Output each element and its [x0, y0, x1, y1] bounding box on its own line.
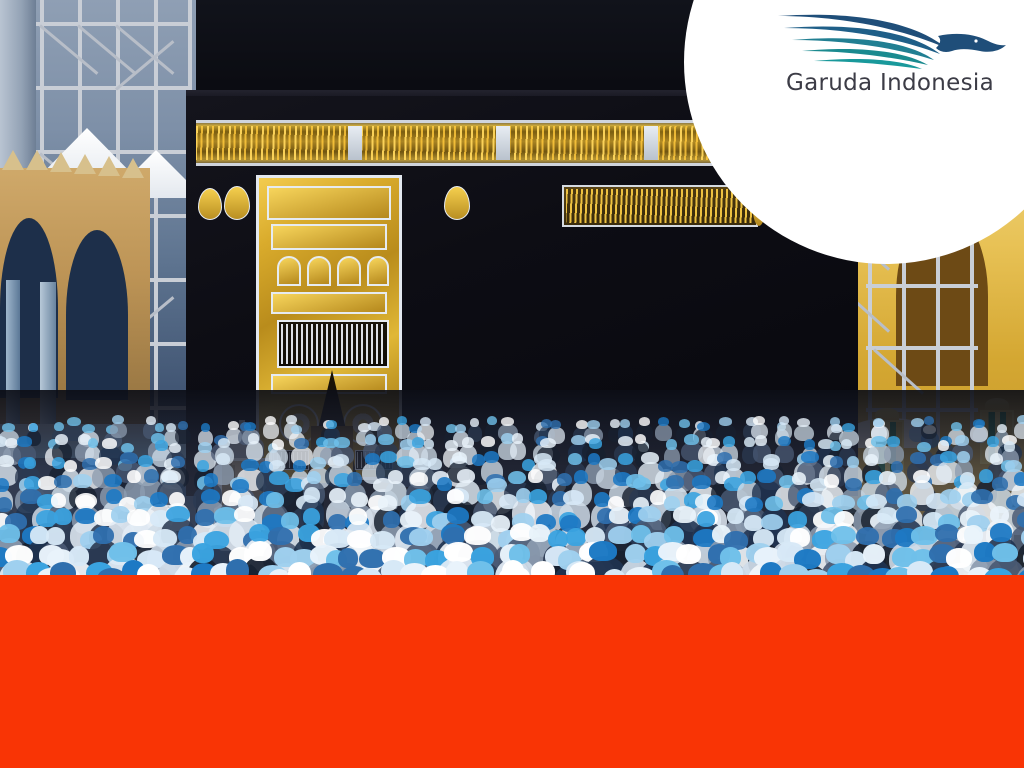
pilgrim-cap	[834, 511, 854, 528]
pilgrim-cap	[169, 443, 182, 454]
pilgrim-cap	[491, 515, 510, 532]
pilgrim-cap	[201, 423, 211, 432]
pilgrim-cap	[666, 439, 677, 450]
pilgrim-cap	[334, 437, 350, 448]
pilgrim-cap	[540, 438, 555, 449]
pilgrim-cap	[55, 434, 68, 445]
pilgrim-cap	[913, 470, 929, 484]
pilgrim-cap	[997, 424, 1007, 433]
pilgrim-cap	[719, 417, 732, 426]
pilgrim-cap	[351, 492, 368, 507]
pilgrim-cap	[990, 506, 1009, 523]
pilgrim-cap	[620, 419, 630, 428]
pilgrim-cap	[957, 451, 970, 463]
pilgrim-cap	[120, 452, 138, 464]
pilgrim-cap	[1005, 460, 1022, 472]
pilgrim-cap	[294, 438, 309, 449]
pilgrim-cap	[801, 451, 819, 463]
brand-wordmark: Garuda Indonesia	[770, 70, 1010, 96]
pilgrim-cap	[144, 469, 159, 483]
pilgrim-cap	[676, 544, 701, 564]
pilgrim-cap	[54, 475, 71, 489]
pilgrim-cap	[464, 526, 491, 544]
pilgrim-cap	[971, 489, 993, 504]
pilgrim-cap	[501, 417, 514, 426]
pilgrim-cap	[973, 419, 985, 428]
door-inscription-plate	[277, 320, 389, 368]
pilgrim-cap	[0, 455, 14, 467]
pilgrim-cap	[248, 541, 272, 561]
pilgrim-cap	[697, 511, 715, 528]
pilgrim-cap	[388, 470, 403, 484]
pilgrim-cap	[538, 459, 556, 471]
pilgrim-cap	[161, 470, 180, 484]
pilgrim-cap	[412, 437, 424, 448]
kiswah-calligraphy-cartouche	[562, 185, 758, 227]
pilgrim-cap	[333, 454, 349, 466]
pilgrim-cap	[707, 495, 723, 510]
pilgrim-cap	[723, 436, 735, 447]
pilgrim-cap	[169, 492, 185, 507]
pilgrim-cap	[378, 495, 397, 510]
pilgrim-cap	[286, 415, 296, 424]
pilgrim-cap	[349, 508, 368, 525]
pilgrim-cap	[740, 471, 756, 485]
pilgrim-cap	[452, 452, 467, 464]
pilgrim-cap	[109, 542, 137, 562]
pilgrim-cap	[329, 488, 346, 503]
pilgrim-cap	[765, 496, 783, 511]
garuda-logo: Garuda Indonesia	[770, 8, 1010, 118]
pilgrim-cap	[428, 458, 443, 470]
pilgrim-cap	[268, 527, 293, 545]
pilgrim	[263, 422, 279, 439]
pilgrim-cap	[54, 508, 72, 525]
pilgrim-cap	[51, 493, 66, 508]
pilgrim-cap	[576, 420, 588, 429]
pilgrim-cap	[93, 526, 114, 544]
pilgrim-cap	[444, 542, 474, 562]
pilgrim-cap	[673, 506, 696, 523]
pilgrim-cap	[804, 439, 815, 450]
pilgrim-cap	[370, 531, 395, 549]
pilgrim-cap	[979, 469, 993, 483]
pilgrim-cap	[641, 452, 658, 464]
pilgrim-cap	[291, 425, 302, 434]
pilgrim-cap	[512, 433, 523, 444]
pilgrim-cap	[1004, 441, 1016, 452]
pilgrim-cap	[792, 472, 807, 486]
pilgrim-cap	[310, 457, 326, 469]
pilgrim-cap	[166, 506, 190, 523]
pilgrim-cap	[146, 416, 156, 425]
pilgrim-cap	[127, 470, 141, 484]
pilgrim-cap	[830, 456, 843, 468]
pilgrim-cap	[831, 424, 842, 433]
pilgrim-cap	[269, 460, 285, 472]
pilgrim-cap	[112, 415, 124, 424]
pilgrim-cap	[150, 492, 168, 507]
pilgrim-cap	[46, 527, 65, 545]
pilgrim-cap	[778, 436, 791, 447]
pilgrim-cap	[82, 424, 95, 433]
pilgrim-cap	[365, 434, 376, 445]
pilgrim-cap	[178, 421, 189, 430]
pilgrim-cap	[589, 438, 603, 449]
pilgrim-cap	[447, 489, 465, 504]
pilgrim-cap	[788, 511, 807, 528]
pilgrim-cap	[625, 544, 646, 564]
pilgrim-cap	[568, 453, 582, 465]
pilgrim-cap	[940, 489, 961, 504]
pilgrim-cap	[761, 514, 783, 531]
pilgrim-cap	[484, 451, 499, 463]
pilgrim-cap	[599, 458, 617, 470]
pilgrim-cap	[887, 436, 900, 447]
pilgrim-cap	[571, 435, 586, 446]
pilgrim-cap	[638, 506, 661, 523]
pilgrim-cap	[397, 416, 407, 425]
pilgrim-cap	[589, 541, 618, 561]
pilgrim-cap	[462, 437, 474, 448]
pilgrim-cap	[477, 489, 493, 504]
pilgrim-cap	[987, 436, 999, 447]
pilgrim-cap	[574, 470, 588, 484]
pilgrim-cap	[195, 509, 215, 526]
pilgrim-cap	[1014, 472, 1024, 486]
pilgrim-cap	[940, 451, 957, 463]
pilgrim-cap	[697, 422, 710, 431]
pilgrim-cap	[95, 457, 111, 469]
pilgrim-cap	[610, 419, 620, 428]
pilgrim-cap	[481, 436, 495, 447]
pilgrim-cap	[847, 456, 860, 468]
pilgrim-cap	[455, 424, 466, 433]
pilgrim-cap	[946, 548, 973, 568]
pilgrim-cap	[917, 442, 931, 453]
pilgrim-cap	[779, 416, 789, 425]
pilgrim-cap	[244, 422, 256, 431]
pilgrim	[510, 441, 526, 460]
pilgrim-cap	[307, 471, 321, 485]
pilgrim-cap	[216, 453, 231, 465]
pilgrim-cap	[445, 440, 458, 451]
pilgrim-cap	[303, 508, 320, 525]
pilgrim-cap	[797, 418, 810, 427]
pilgrim-cap	[192, 543, 214, 563]
pilgrim-cap	[304, 487, 320, 502]
pilgrim-cap	[447, 507, 469, 524]
garuda-bird-icon	[770, 8, 1010, 70]
pilgrim-cap	[684, 434, 699, 445]
pilgrim-cap	[410, 472, 428, 486]
pilgrim-cap	[687, 460, 703, 472]
pilgrim-cap	[865, 454, 879, 466]
pilgrim-cap	[378, 434, 393, 445]
pilgrim-cap	[420, 417, 431, 426]
pilgrim-cap	[266, 492, 284, 507]
pilgrim-cap	[249, 524, 270, 542]
pilgrim-cap	[409, 528, 433, 546]
pilgrim-cap	[155, 423, 165, 432]
pilgrim-crowd	[0, 390, 1024, 580]
pilgrim-cap	[831, 526, 856, 544]
pilgrim-cap	[856, 527, 879, 545]
pilgrim-cap	[0, 524, 20, 542]
pilgrim-cap	[104, 474, 122, 488]
pilgrim-cap	[692, 475, 711, 489]
pilgrim	[246, 441, 263, 460]
pilgrim-cap	[666, 475, 683, 489]
pilgrim-cap	[528, 469, 544, 483]
promo-poster: UMRAH REGULER 19 AGUSTUS 2025 PROGRAM 9 …	[0, 0, 1024, 768]
pilgrim-cap	[1017, 415, 1024, 424]
pilgrim-cap	[529, 489, 547, 504]
pilgrim-cap	[265, 416, 276, 425]
pilgrim-cap	[67, 417, 80, 426]
pilgrim-cap	[17, 436, 33, 447]
pilgrim-cap	[218, 438, 231, 449]
pilgrim-cap	[234, 506, 256, 523]
pilgrim-cap	[2, 423, 15, 432]
pilgrim-cap	[873, 418, 883, 427]
pilgrim-cap	[204, 473, 219, 487]
pilgrim-cap	[529, 524, 550, 542]
pilgrim-cap	[470, 418, 480, 427]
arcade-arch-2	[66, 230, 128, 400]
pilgrim-cap	[726, 459, 740, 471]
pilgrim-cap	[379, 417, 389, 426]
pilgrim-cap	[64, 460, 77, 472]
pilgrim-cap	[155, 440, 168, 451]
pilgrim	[175, 428, 191, 445]
pilgrim-cap	[293, 460, 306, 472]
pilgrim-cap	[138, 455, 153, 467]
pilgrim-cap	[679, 419, 690, 428]
gold-hizam-calligraphy-band	[196, 120, 762, 166]
promo-banner: UMRAH REGULER 19 AGUSTUS 2025 PROGRAM 9 …	[0, 575, 1024, 768]
pilgrim-cap	[24, 457, 36, 469]
pilgrim-cap	[911, 526, 938, 544]
pilgrim-cap	[437, 477, 452, 491]
pilgrim-cap	[608, 526, 633, 544]
pilgrim-cap	[633, 477, 652, 491]
pilgrim-cap	[347, 472, 361, 486]
pilgrim-cap	[639, 417, 650, 426]
pilgrim-cap	[409, 489, 430, 504]
pilgrim-cap	[924, 416, 934, 425]
pilgrim-cap	[201, 489, 220, 504]
pilgrim-cap	[618, 453, 633, 465]
pilgrim-cap	[88, 438, 99, 449]
pilgrim-cap	[658, 417, 670, 426]
pilgrim-cap	[745, 497, 763, 512]
pilgrim	[110, 422, 127, 439]
pilgrim-cap	[863, 544, 885, 564]
pilgrim-cap	[508, 471, 526, 485]
pilgrim-cap	[326, 420, 337, 429]
pilgrim-cap	[457, 469, 475, 483]
pilgrim-cap	[755, 435, 767, 446]
pilgrim-cap	[727, 508, 744, 525]
pilgrim-cap	[955, 435, 969, 446]
pilgrim-cap	[29, 423, 39, 432]
pilgrim-cap	[197, 460, 210, 472]
pilgrim-cap	[842, 423, 855, 432]
pilgrim-cap	[127, 509, 150, 526]
pilgrim-cap	[328, 514, 347, 531]
pilgrim-cap	[830, 441, 841, 452]
pilgrim-cap	[563, 490, 584, 505]
pilgrim-cap	[487, 416, 497, 425]
pilgrim-cap	[802, 492, 824, 507]
pilgrim-cap	[753, 416, 764, 425]
pilgrim-cap	[938, 440, 949, 451]
pilgrim-cap	[102, 438, 117, 449]
pilgrim-cap	[910, 452, 926, 464]
pilgrim-cap	[248, 433, 259, 444]
pilgrim-cap	[73, 474, 91, 488]
pilgrim-cap	[618, 436, 633, 447]
pilgrim-cap	[400, 511, 422, 528]
pilgrim-cap	[52, 457, 65, 469]
pilgrim-cap	[879, 471, 896, 485]
pilgrim-cap	[0, 478, 9, 492]
pilgrim-cap	[896, 506, 917, 523]
pilgrim-cap	[960, 472, 975, 486]
pilgrim-cap	[824, 474, 839, 488]
pilgrim-cap	[383, 511, 401, 528]
pilgrim-cap	[951, 422, 963, 431]
pilgrim-cap	[990, 523, 1012, 541]
pilgrim	[921, 422, 937, 439]
pilgrim	[970, 425, 988, 442]
pilgrim-cap	[198, 442, 212, 453]
pilgrim-cap	[241, 459, 259, 471]
pilgrim-cap	[272, 439, 284, 450]
pilgrim-cap	[228, 421, 239, 430]
pilgrim-cap	[845, 478, 862, 492]
pilgrim-cap	[587, 420, 600, 429]
pilgrim-cap	[424, 439, 435, 450]
pilgrim-cap	[891, 461, 904, 473]
pilgrim-cap	[964, 525, 984, 543]
pilgrim-cap	[757, 469, 776, 483]
pilgrim-cap	[635, 434, 646, 445]
pilgrim-cap	[380, 451, 397, 463]
pilgrim	[655, 424, 672, 441]
pilgrim-cap	[69, 546, 90, 566]
pilgrim-cap	[166, 423, 176, 432]
pilgrim-cap	[877, 507, 898, 524]
pilgrim-cap	[609, 507, 630, 524]
pilgrim-cap	[935, 524, 959, 542]
pilgrim-cap	[871, 436, 887, 447]
pilgrim-cap	[54, 422, 64, 431]
pilgrim-cap	[992, 477, 1008, 491]
pilgrim-cap	[992, 543, 1017, 563]
